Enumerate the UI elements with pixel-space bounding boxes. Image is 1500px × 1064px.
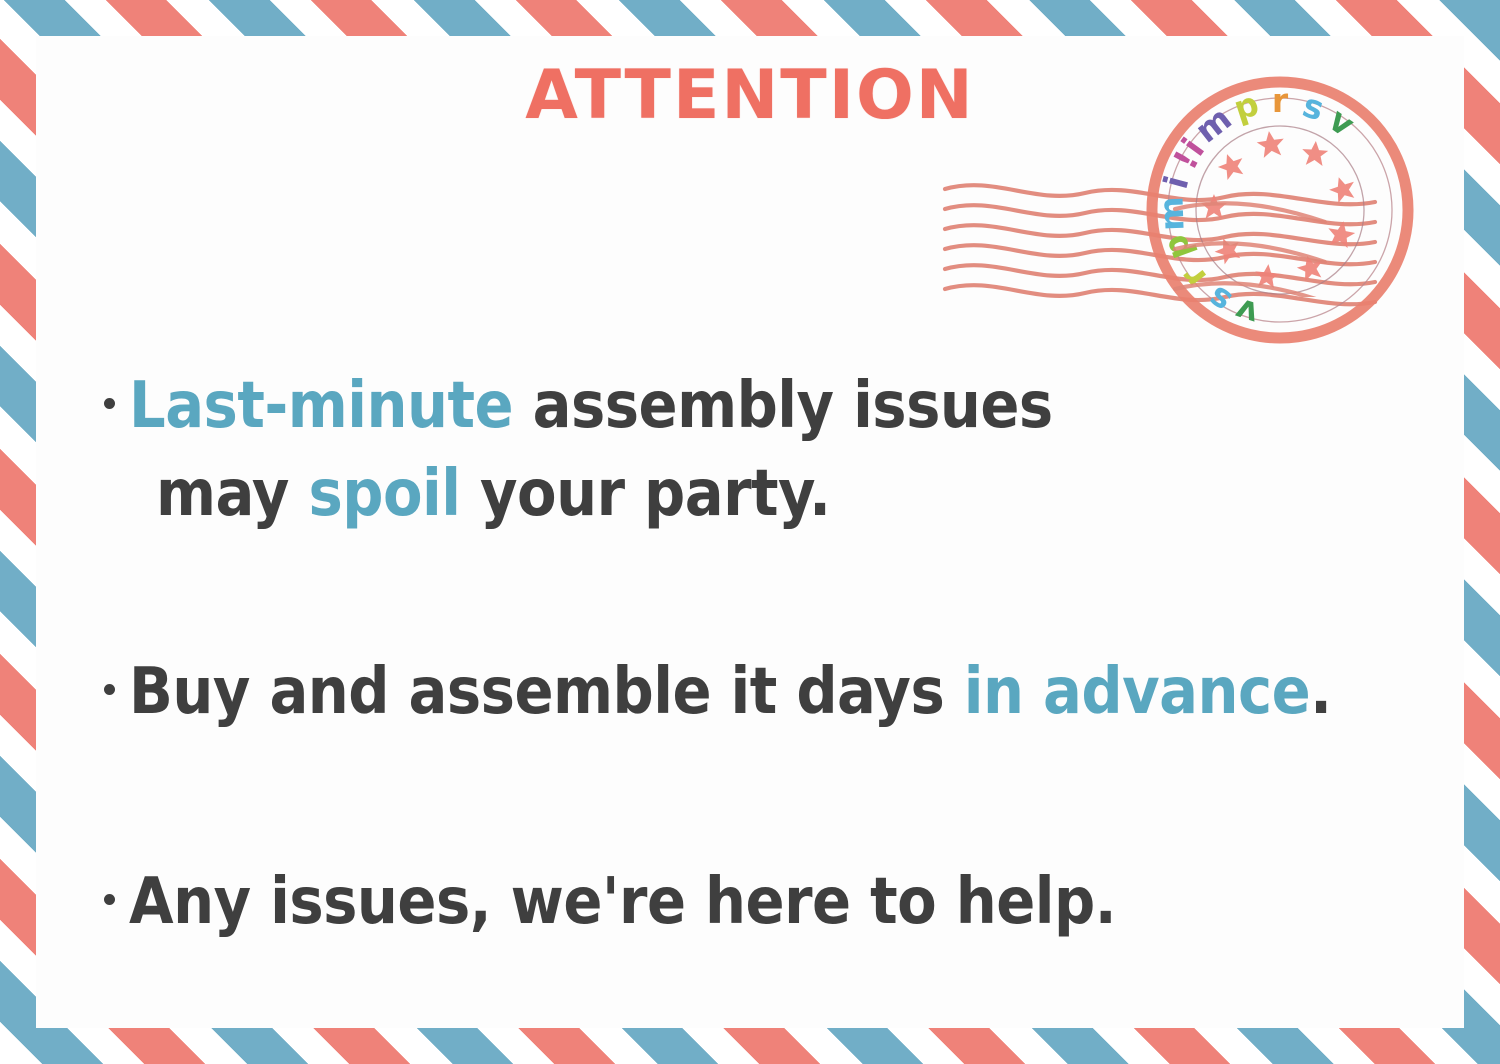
bullet-1-text-3: your party. [460,457,830,531]
poster-content: ATTENTION [0,0,1500,1064]
attention-poster: ATTENTION [0,0,1500,1064]
bullet-list: Last-minute assembly issues may spoil yo… [0,0,1500,1064]
bullet-1-highlight-2: spoil [308,457,460,531]
bullet-marker-icon [104,684,115,695]
bullet-1-line-2: may spoil your party. [156,450,1053,538]
bullet-2-text-1: Buy and assemble it days [129,655,964,729]
list-item: Last-minute assembly issues may spoil yo… [104,362,1053,539]
bullet-1-highlight-1: Last-minute [129,369,513,443]
bullet-marker-icon [104,894,115,905]
bullet-2-highlight-1: in advance [964,655,1310,729]
bullet-marker-icon [104,398,115,409]
bullet-1-text-2: may [156,457,308,531]
bullet-1-text-1: assembly issues [513,369,1053,443]
list-item: Buy and assemble it days in advance. [104,648,1332,736]
list-item: Any issues, we're here to help. [104,858,1116,946]
bullet-3-text-1: Any issues, we're here to help. [129,865,1116,939]
bullet-2-text-2: . [1310,655,1331,729]
